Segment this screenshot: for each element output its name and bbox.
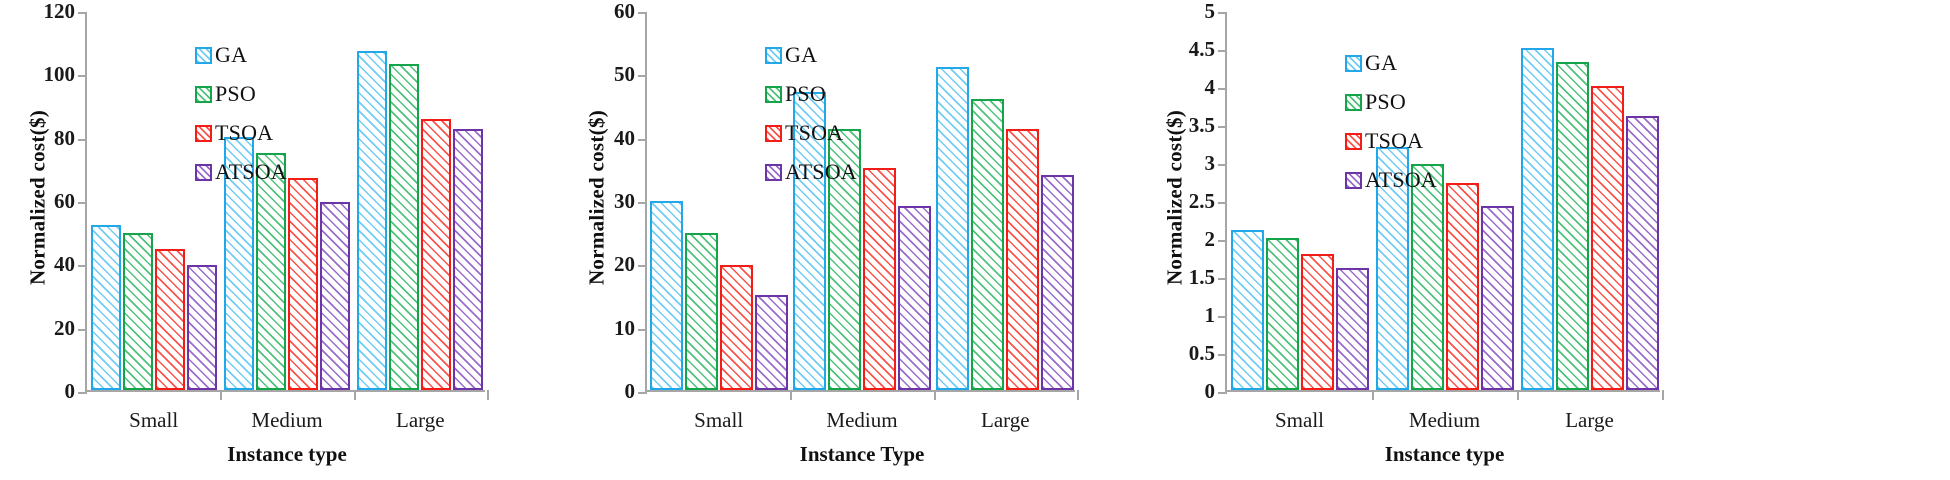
y-tick-mark	[78, 12, 87, 14]
y-tick-mark	[78, 265, 87, 267]
legend-label: GA	[1365, 50, 1397, 76]
bar-pso-small	[1266, 238, 1299, 390]
y-tick-label: 100	[44, 62, 76, 87]
y-tick-mark	[1218, 278, 1227, 280]
bar-tsoa-small	[720, 265, 753, 390]
y-tick-label: 0	[65, 379, 76, 404]
legend-label: GA	[215, 42, 247, 68]
y-tick-label: 60	[614, 0, 635, 24]
y-tick-mark	[1218, 316, 1227, 318]
y-tick-mark	[78, 75, 87, 77]
bar-tsoa-large	[1591, 86, 1624, 390]
legend-item-atsoa[interactable]: ATSOA	[1345, 167, 1437, 193]
legend-item-pso[interactable]: PSO	[195, 81, 287, 107]
y-tick-label: 0.5	[1189, 341, 1215, 366]
legend-swatch-icon	[195, 86, 212, 103]
legend-2: GAPSOTSOAATSOA	[765, 42, 857, 185]
y-tick-mark	[1218, 12, 1227, 14]
bar-atsoa-small	[755, 295, 788, 390]
x-category-label: Large	[396, 408, 445, 433]
x-tick-mark	[1517, 390, 1519, 400]
y-tick-label: 10	[614, 316, 635, 341]
y-tick-label: 60	[54, 189, 75, 214]
y-tick-mark	[638, 75, 647, 77]
y-tick-label: 0	[1205, 379, 1216, 404]
legend-3: GAPSOTSOAATSOA	[1345, 50, 1437, 193]
y-tick-mark	[1218, 88, 1227, 90]
bar-atsoa-large	[1041, 175, 1074, 390]
legend-label: GA	[785, 42, 817, 68]
bar-ga-large	[1521, 48, 1554, 390]
x-category-label: Medium	[1409, 408, 1480, 433]
bar-ga-small	[1231, 230, 1264, 390]
bar-ga-small	[91, 225, 121, 390]
y-tick-mark	[1218, 240, 1227, 242]
y-tick-label: 0	[625, 379, 636, 404]
bar-tsoa-medium	[1446, 183, 1479, 390]
chart-panel-1: Normalized cost($) 020406080100120SmallM…	[0, 0, 520, 480]
y-tick-mark	[78, 329, 87, 331]
bar-atsoa-medium	[320, 202, 350, 390]
y-tick-mark	[1218, 202, 1227, 204]
legend-swatch-icon	[1345, 55, 1362, 72]
y-tick-label: 2.5	[1189, 189, 1215, 214]
legend-swatch-icon	[195, 164, 212, 181]
bar-atsoa-large	[453, 129, 483, 390]
legend-item-ga[interactable]: GA	[1345, 50, 1437, 76]
y-tick-label: 4	[1205, 75, 1216, 100]
y-tick-label: 80	[54, 126, 75, 151]
bar-atsoa-small	[187, 265, 217, 390]
legend-label: PSO	[785, 81, 826, 107]
legend-1: GAPSOTSOAATSOA	[195, 42, 287, 185]
bar-pso-large	[1556, 62, 1589, 390]
legend-label: TSOA	[785, 120, 843, 146]
bar-ga-small	[650, 201, 683, 390]
y-tick-mark	[1218, 392, 1227, 394]
y-tick-label: 1	[1205, 303, 1216, 328]
legend-swatch-icon	[765, 86, 782, 103]
y-tick-mark	[1218, 50, 1227, 52]
y-tick-mark	[1218, 126, 1227, 128]
x-category-label: Large	[1565, 408, 1614, 433]
bar-pso-large	[389, 64, 419, 390]
bar-atsoa-medium	[1481, 206, 1514, 390]
x-tick-mark	[1077, 390, 1079, 400]
bar-tsoa-small	[1301, 254, 1334, 390]
y-axis-title-3: Normalized cost($)	[1163, 68, 1188, 328]
y-tick-label: 1.5	[1189, 265, 1215, 290]
y-tick-mark	[638, 12, 647, 14]
x-category-label: Small	[129, 408, 178, 433]
x-axis-title: Instance type	[227, 442, 347, 467]
y-tick-mark	[1218, 164, 1227, 166]
y-axis-title-2: Normalized cost($)	[585, 68, 610, 328]
y-tick-mark	[1218, 354, 1227, 356]
bar-ga-large	[357, 51, 387, 390]
y-tick-label: 40	[54, 252, 75, 277]
legend-swatch-icon	[1345, 172, 1362, 189]
chart-panel-2: Normalized cost($) 0102030405060SmallMed…	[545, 0, 1105, 480]
y-tick-mark	[638, 392, 647, 394]
legend-item-ga[interactable]: GA	[765, 42, 857, 68]
bar-pso-small	[685, 233, 718, 390]
legend-swatch-icon	[1345, 94, 1362, 111]
figure-row: Normalized cost($) 020406080100120SmallM…	[0, 0, 1950, 480]
x-tick-mark	[220, 390, 222, 400]
bar-pso-small	[123, 233, 153, 390]
panel-spacer-2	[1105, 0, 1120, 480]
x-tick-mark	[1662, 390, 1664, 400]
y-tick-label: 4.5	[1189, 37, 1215, 62]
y-tick-label: 50	[614, 62, 635, 87]
x-axis-title: Instance type	[1385, 442, 1505, 467]
legend-item-tsoa[interactable]: TSOA	[195, 120, 287, 146]
legend-swatch-icon	[1345, 133, 1362, 150]
y-tick-label: 120	[44, 0, 76, 24]
x-tick-mark	[354, 390, 356, 400]
bar-pso-medium	[1411, 164, 1444, 390]
y-axis-title-1: Normalized cost($)	[26, 68, 51, 328]
bar-atsoa-large	[1626, 116, 1659, 390]
y-tick-mark	[638, 265, 647, 267]
legend-label: PSO	[1365, 89, 1406, 115]
y-tick-label: 3.5	[1189, 113, 1215, 138]
bar-atsoa-medium	[898, 206, 931, 390]
x-tick-mark	[934, 390, 936, 400]
legend-item-ga[interactable]: GA	[195, 42, 287, 68]
bar-atsoa-small	[1336, 268, 1369, 390]
bar-pso-medium	[256, 153, 286, 391]
bar-ga-large	[936, 67, 969, 390]
legend-label: ATSOA	[215, 159, 287, 185]
x-category-label: Small	[1275, 408, 1324, 433]
y-tick-label: 30	[614, 189, 635, 214]
x-category-label: Medium	[251, 408, 322, 433]
legend-item-atsoa[interactable]: ATSOA	[195, 159, 287, 185]
legend-label: PSO	[215, 81, 256, 107]
legend-label: TSOA	[1365, 128, 1423, 154]
legend-item-tsoa[interactable]: TSOA	[765, 120, 857, 146]
y-tick-mark	[638, 329, 647, 331]
x-tick-mark	[487, 390, 489, 400]
plot-area-3: 00.511.522.533.544.55SmallMediumLargeIns…	[1225, 12, 1660, 392]
bar-pso-large	[971, 99, 1004, 390]
legend-label: ATSOA	[1365, 167, 1437, 193]
legend-swatch-icon	[765, 164, 782, 181]
x-category-label: Large	[981, 408, 1030, 433]
x-category-label: Small	[694, 408, 743, 433]
y-tick-label: 5	[1205, 0, 1216, 24]
y-tick-label: 3	[1205, 151, 1216, 176]
x-tick-mark	[790, 390, 792, 400]
legend-item-tsoa[interactable]: TSOA	[1345, 128, 1437, 154]
legend-swatch-icon	[765, 47, 782, 64]
legend-swatch-icon	[195, 47, 212, 64]
bar-tsoa-large	[1006, 129, 1039, 390]
bar-tsoa-medium	[288, 178, 318, 390]
y-tick-label: 40	[614, 126, 635, 151]
chart-panel-3: Normalized cost($) 00.511.522.533.544.55…	[1120, 0, 1685, 480]
y-tick-label: 20	[54, 316, 75, 341]
bar-tsoa-medium	[863, 168, 896, 390]
x-axis-title: Instance Type	[800, 442, 925, 467]
bar-tsoa-large	[421, 119, 451, 390]
legend-swatch-icon	[765, 125, 782, 142]
x-tick-mark	[1372, 390, 1374, 400]
legend-label: TSOA	[215, 120, 273, 146]
x-category-label: Medium	[826, 408, 897, 433]
y-tick-label: 20	[614, 252, 635, 277]
legend-item-pso[interactable]: PSO	[765, 81, 857, 107]
legend-item-pso[interactable]: PSO	[1345, 89, 1437, 115]
bar-tsoa-small	[155, 249, 185, 390]
y-tick-mark	[638, 202, 647, 204]
y-tick-mark	[638, 139, 647, 141]
legend-item-atsoa[interactable]: ATSOA	[765, 159, 857, 185]
plot-area-2: 0102030405060SmallMediumLargeInstance Ty…	[645, 12, 1075, 392]
y-tick-mark	[78, 392, 87, 394]
y-tick-label: 2	[1205, 227, 1216, 252]
legend-swatch-icon	[195, 125, 212, 142]
y-tick-mark	[78, 202, 87, 204]
y-tick-mark	[78, 139, 87, 141]
panel-spacer-1	[520, 0, 545, 480]
legend-label: ATSOA	[785, 159, 857, 185]
